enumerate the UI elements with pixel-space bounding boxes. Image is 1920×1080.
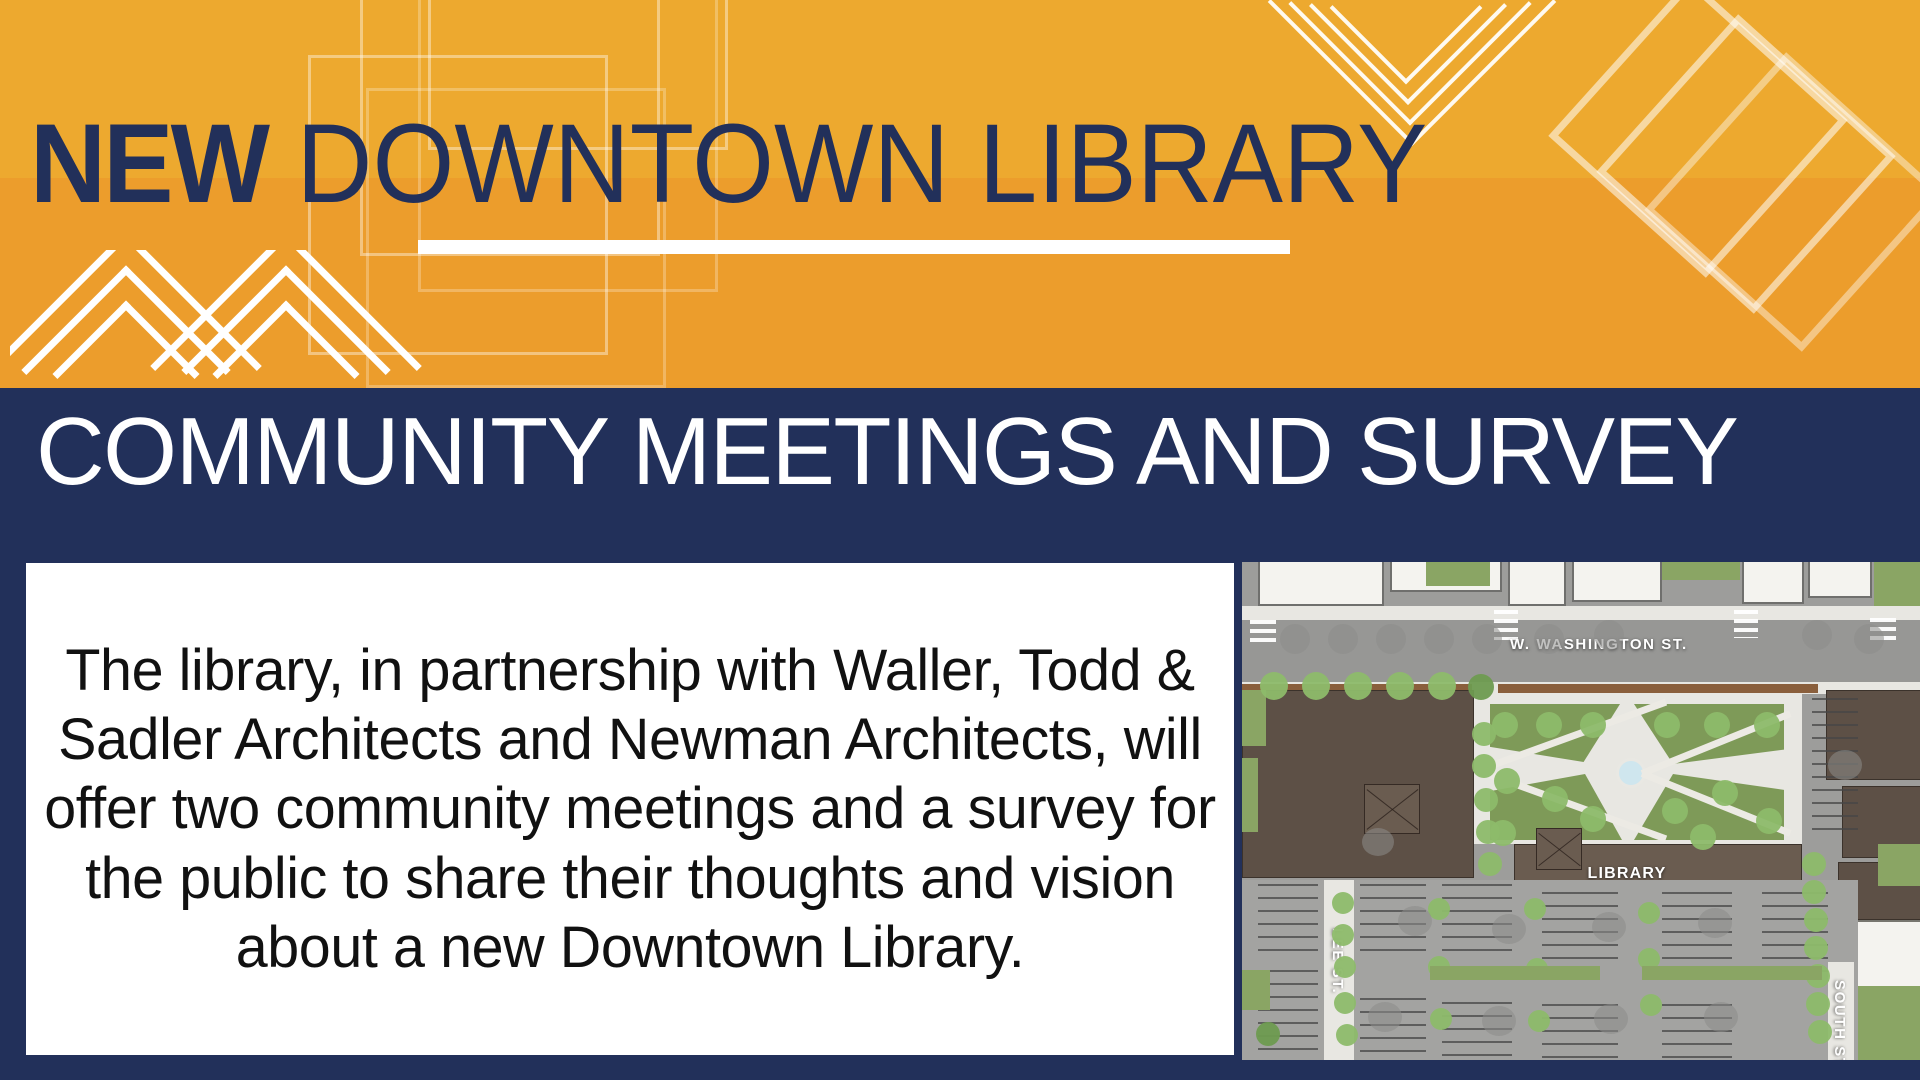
title-underline-rule: [418, 240, 1290, 254]
parking-stalls-west-a: [1258, 884, 1318, 960]
north-building-a: [1258, 562, 1384, 606]
east-green-a: [1878, 844, 1920, 886]
washington-north-sidewalk: [1242, 606, 1920, 620]
page-title-bold: NEW: [30, 101, 267, 226]
body-text-box: The library, in partnership with Waller,…: [26, 563, 1234, 1055]
west-building: [1242, 690, 1474, 878]
page-title-light: DOWNTOWN LIBRARY: [267, 101, 1427, 226]
street-label-south: SOUTH ST.: [1831, 980, 1848, 1060]
parking-stalls-right-edge: [1762, 892, 1828, 972]
north-building-c: [1508, 562, 1566, 606]
south-green-strip-a: [1242, 970, 1270, 1010]
south-green-strip-b: [1642, 966, 1822, 980]
east-building-white: [1850, 920, 1920, 990]
north-building-d: [1572, 562, 1662, 602]
east-green-b: [1854, 986, 1920, 1060]
poster-root: NEW DOWNTOWN LIBRARY COMMUNITY MEETINGS …: [0, 0, 1920, 1080]
page-title: NEW DOWNTOWN LIBRARY: [30, 108, 1788, 220]
planter-strip-washington: [1498, 684, 1818, 693]
north-building-f: [1808, 562, 1872, 598]
north-green-a: [1426, 562, 1490, 586]
north-building-e: [1742, 562, 1804, 604]
subheading: COMMUNITY MEETINGS AND SURVEY: [36, 403, 1897, 501]
west-building-rooftop-unit: [1364, 784, 1420, 834]
site-plan-image: W. WASHINGTON ST. LIBRARY SQUARE: [1242, 562, 1920, 1060]
body-paragraph: The library, in partnership with Waller,…: [42, 636, 1218, 981]
north-green-b: [1662, 562, 1740, 580]
crosswalk-right: [1734, 610, 1758, 638]
crosswalk-left: [1250, 620, 1276, 646]
west-green-strip-b: [1242, 758, 1258, 832]
north-green-c: [1874, 562, 1920, 608]
south-green-strip-c: [1430, 966, 1600, 980]
west-green-strip-a: [1242, 690, 1266, 746]
